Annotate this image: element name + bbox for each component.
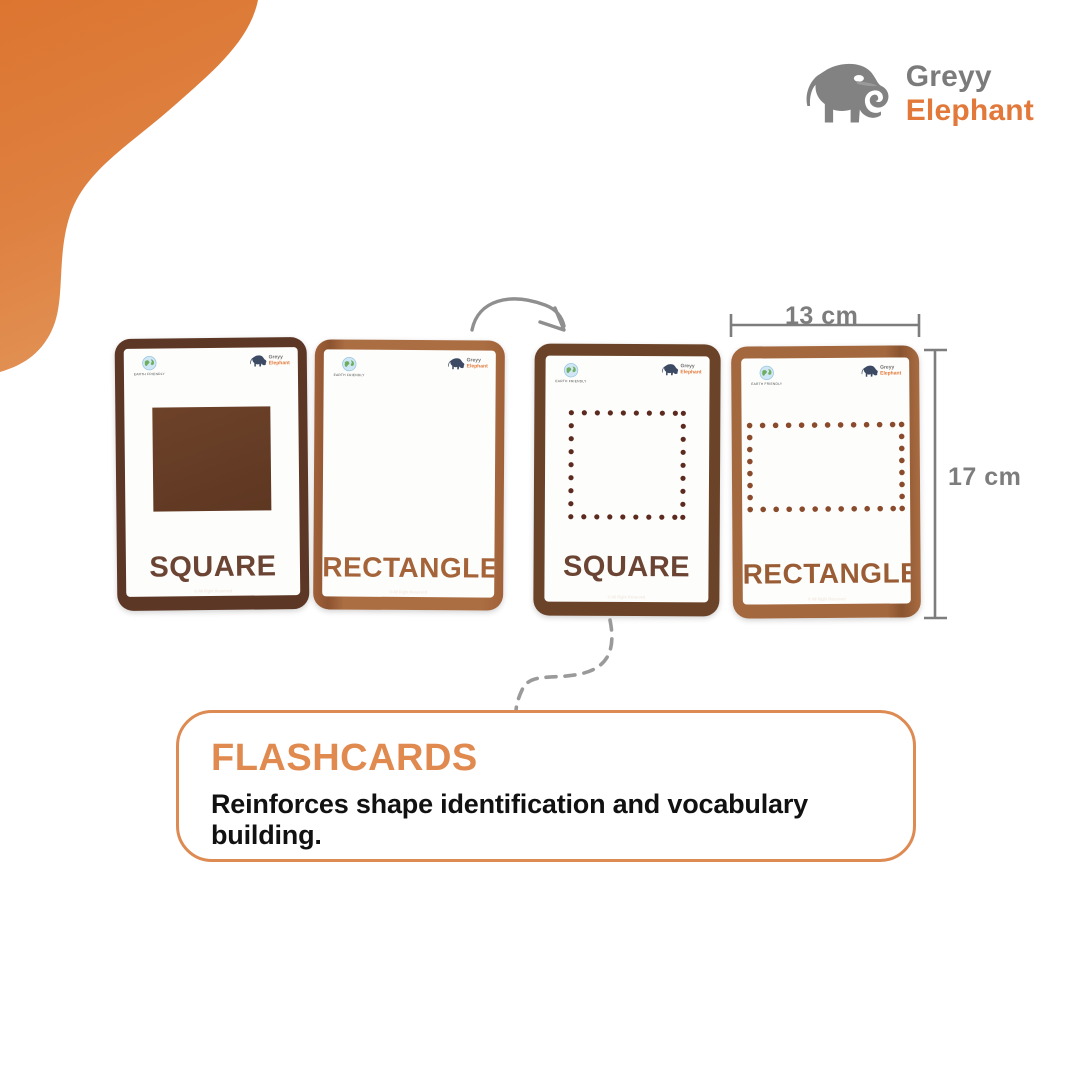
elephant-icon	[800, 58, 892, 130]
poster-canvas: Greyy Elephant EARTH FRIENDLY	[0, 0, 1080, 1080]
dimension-lines	[0, 0, 1080, 1080]
brand-logo: Greyy Elephant	[800, 58, 1034, 130]
brand-name-line1: Greyy	[906, 62, 1034, 92]
caption-title: FLASHCARDS	[211, 739, 883, 777]
caption-subtitle: Reinforces shape identification and voca…	[211, 789, 883, 851]
brand-name-line2: Elephant	[906, 96, 1034, 126]
feature-caption-box: FLASHCARDS Reinforces shape identificati…	[176, 710, 916, 862]
